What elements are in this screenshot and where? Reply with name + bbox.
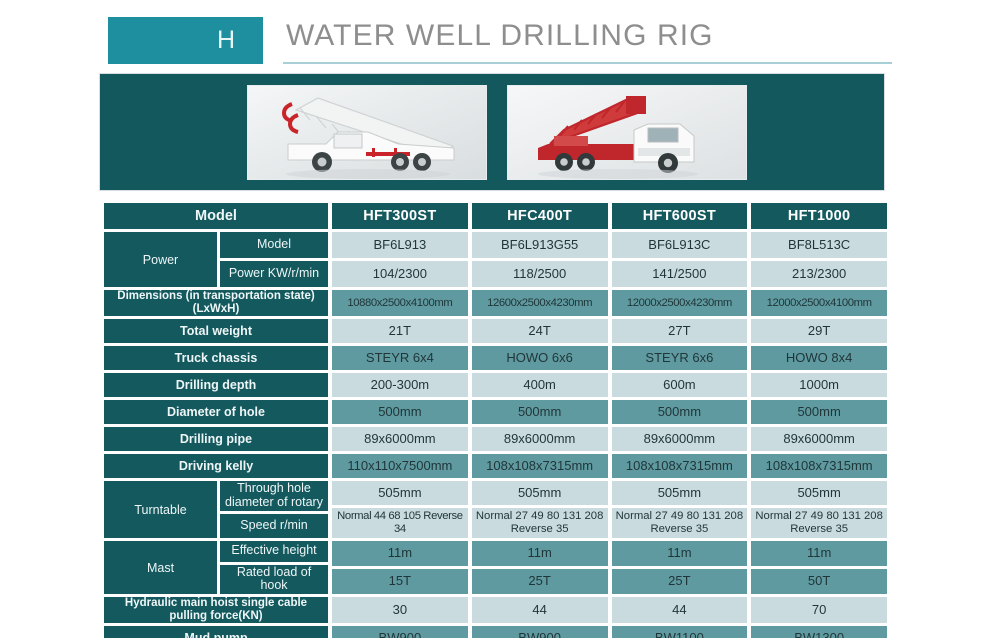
cell-hoist-3: 70 bbox=[751, 597, 887, 623]
cell-load-3: 50T bbox=[751, 569, 887, 594]
cell-model-1: BF6L913G55 bbox=[472, 232, 608, 258]
cell-weight-2: 27T bbox=[612, 319, 748, 343]
group-label-mast: Mast Effective height Rated load of hook bbox=[104, 541, 328, 594]
cell-pump-0: BW900 bbox=[332, 626, 468, 638]
cell-depth-0: 200-300m bbox=[332, 373, 468, 397]
table-row: Driving kelly 110x110x7500mm 108x108x731… bbox=[104, 454, 887, 478]
row-label-truck-chassis: Truck chassis bbox=[104, 346, 328, 370]
table-row: Total weight 21T 24T 27T 29T bbox=[104, 319, 887, 343]
cell-model-2: BF6L913C bbox=[612, 232, 748, 258]
row-label-driving-kelly: Driving kelly bbox=[104, 454, 328, 478]
cell-weight-3: 29T bbox=[751, 319, 887, 343]
row-label-drilling-depth: Drilling depth bbox=[104, 373, 328, 397]
cell-speed-1: Normal 27 49 80 131 208 Reverse 35 bbox=[472, 508, 608, 538]
cell-load-2: 25T bbox=[612, 569, 748, 594]
row-label-text: Drilling pipe bbox=[104, 427, 328, 451]
cell-hoist-1: 44 bbox=[472, 597, 608, 623]
cell-hoist-2: 44 bbox=[612, 597, 748, 623]
cell-pump-1: BW900 bbox=[472, 626, 608, 638]
cell-dimensions-3: 12000x2500x4100mm bbox=[751, 290, 887, 316]
turntable-group-values: 505mm 505mm 505mm 505mm Normal 44 68 105… bbox=[332, 481, 887, 538]
cell-pipe-0: 89x6000mm bbox=[332, 427, 468, 451]
cell-kelly-0: 110x110x7500mm bbox=[332, 454, 468, 478]
table-row-turntable-group: Turntable Through hole diameter of rotar… bbox=[104, 481, 887, 538]
cell-throughhole-3: 505mm bbox=[751, 481, 887, 505]
product-photo-white-rig bbox=[247, 85, 487, 180]
row-label-speed: Speed r/min bbox=[220, 514, 328, 539]
row-values: STEYR 6x4 HOWO 6x6 STEYR 6x6 HOWO 8x4 bbox=[332, 346, 887, 370]
cell-hole-1: 500mm bbox=[472, 400, 608, 424]
table-row: BF6L913 BF6L913G55 BF6L913C BF8L513C bbox=[332, 232, 887, 258]
table-row: Hydraulic main hoist single cable pullin… bbox=[104, 597, 887, 623]
row-values: 30 44 44 70 bbox=[332, 597, 887, 623]
cell-depth-2: 600m bbox=[612, 373, 748, 397]
cell-throughhole-1: 505mm bbox=[472, 481, 608, 505]
cell-speed-0: Normal 44 68 105 Reverse 34 bbox=[332, 508, 468, 538]
cell-throughhole-2: 505mm bbox=[612, 481, 748, 505]
cell-height-0: 11m bbox=[332, 541, 468, 566]
cell-hole-0: 500mm bbox=[332, 400, 468, 424]
row-label-diameter-of-hole: Diameter of hole bbox=[104, 400, 328, 424]
cell-speed-2: Normal 27 49 80 131 208 Reverse 35 bbox=[612, 508, 748, 538]
cell-power-1: 118/2500 bbox=[472, 261, 608, 287]
table-row: Normal 44 68 105 Reverse 34 Normal 27 49… bbox=[332, 508, 887, 538]
cell-power-2: 141/2500 bbox=[612, 261, 748, 287]
cell-load-1: 25T bbox=[472, 569, 608, 594]
page-title: WATER WELL DRILLING RIG bbox=[286, 19, 714, 53]
cell-load-0: 15T bbox=[332, 569, 468, 594]
row-values: 21T 24T 27T 29T bbox=[332, 319, 887, 343]
cell-kelly-1: 108x108x7315mm bbox=[472, 454, 608, 478]
model-header-label: Model bbox=[104, 203, 328, 229]
row-label-through-hole: Through hole diameter of rotary bbox=[220, 481, 328, 511]
cell-chassis-1: HOWO 6x6 bbox=[472, 346, 608, 370]
row-values: BW900 BW900 BW1100 BW1300 bbox=[332, 626, 887, 638]
cell-chassis-2: STEYR 6x6 bbox=[612, 346, 748, 370]
cell-pump-3: BW1300 bbox=[751, 626, 887, 638]
cell-dimensions-1: 12600x2500x4230mm bbox=[472, 290, 608, 316]
cell-model-3: BF8L513C bbox=[751, 232, 887, 258]
cell-hole-3: 500mm bbox=[751, 400, 887, 424]
row-values: 110x110x7500mm 108x108x7315mm 108x108x73… bbox=[332, 454, 887, 478]
cell-kelly-2: 108x108x7315mm bbox=[612, 454, 748, 478]
power-group-values: BF6L913 BF6L913G55 BF6L913C BF8L513C 104… bbox=[332, 232, 887, 287]
column-header-1: HFC400T bbox=[472, 203, 608, 229]
row-values: 10880x2500x4100mm 12600x2500x4230mm 1200… bbox=[332, 290, 887, 316]
column-header-3: HFT1000 bbox=[751, 203, 887, 229]
cell-throughhole-0: 505mm bbox=[332, 481, 468, 505]
section-letter-badge: H bbox=[108, 17, 263, 64]
table-header-row: Model HFT300ST HFC400T HFT600ST HFT1000 bbox=[104, 203, 887, 229]
cell-depth-3: 1000m bbox=[751, 373, 887, 397]
table-row: Dimensions (in transportation state) (Lx… bbox=[104, 290, 887, 316]
column-header-0: HFT300ST bbox=[332, 203, 468, 229]
row-label-mud-pump: Mud pump bbox=[104, 626, 328, 638]
table-row: 104/2300 118/2500 141/2500 213/2300 bbox=[332, 261, 887, 287]
row-label-total-weight: Total weight bbox=[104, 319, 328, 343]
product-photo-banner bbox=[99, 73, 885, 191]
group-name-power: Power bbox=[104, 232, 217, 287]
cell-chassis-3: HOWO 8x4 bbox=[751, 346, 887, 370]
table-row: Drilling depth 200-300m 400m 600m 1000m bbox=[104, 373, 887, 397]
cell-depth-1: 400m bbox=[472, 373, 608, 397]
table-row: 505mm 505mm 505mm 505mm bbox=[332, 481, 887, 505]
row-label-text: Drilling depth bbox=[104, 373, 328, 397]
mast-group-values: 11m 11m 11m 11m 15T 25T 25T 50T bbox=[332, 541, 887, 594]
row-values: 200-300m 400m 600m 1000m bbox=[332, 373, 887, 397]
cell-speed-3: Normal 27 49 80 131 208 Reverse 35 bbox=[751, 508, 887, 538]
cell-kelly-3: 108x108x7315mm bbox=[751, 454, 887, 478]
group-label-power: Power Model Power KW/r/min bbox=[104, 232, 328, 287]
row-label-drilling-pipe: Drilling pipe bbox=[104, 427, 328, 451]
row-values: 500mm 500mm 500mm 500mm bbox=[332, 400, 887, 424]
row-label-dimensions: Dimensions (in transportation state) (Lx… bbox=[104, 290, 328, 316]
specification-table: Model HFT300ST HFC400T HFT600ST HFT1000 … bbox=[104, 203, 887, 638]
table-row: Diameter of hole 500mm 500mm 500mm 500mm bbox=[104, 400, 887, 424]
product-spec-page: H WATER WELL DRILLING RIG bbox=[0, 0, 1000, 638]
row-label-hydraulic-hoist: Hydraulic main hoist single cable pullin… bbox=[104, 597, 328, 623]
row-label-rated-load: Rated load of hook bbox=[220, 565, 328, 595]
row-label-text: Mud pump bbox=[104, 626, 328, 638]
table-row-mast-group: Mast Effective height Rated load of hook… bbox=[104, 541, 887, 594]
table-row: 15T 25T 25T 50T bbox=[332, 569, 887, 594]
table-row: Truck chassis STEYR 6x4 HOWO 6x6 STEYR 6… bbox=[104, 346, 887, 370]
cell-pipe-2: 89x6000mm bbox=[612, 427, 748, 451]
row-label-text: Driving kelly bbox=[104, 454, 328, 478]
group-sublabels-turntable: Through hole diameter of rotary Speed r/… bbox=[220, 481, 328, 538]
table-row-power-group: Power Model Power KW/r/min BF6L913 BF6L9… bbox=[104, 232, 887, 287]
cell-dimensions-2: 12000x2500x4230mm bbox=[612, 290, 748, 316]
page-header: H WATER WELL DRILLING RIG bbox=[108, 17, 892, 65]
row-label-effective-height: Effective height bbox=[220, 541, 328, 562]
cell-power-3: 213/2300 bbox=[751, 261, 887, 287]
group-sublabels-power: Model Power KW/r/min bbox=[220, 232, 328, 287]
cell-pump-2: BW1100 bbox=[612, 626, 748, 638]
white-drilling-rig-truck-icon bbox=[248, 86, 487, 180]
cell-model-0: BF6L913 bbox=[332, 232, 468, 258]
cell-chassis-0: STEYR 6x4 bbox=[332, 346, 468, 370]
cell-height-2: 11m bbox=[612, 541, 748, 566]
row-label-text: Total weight bbox=[104, 319, 328, 343]
cell-weight-0: 21T bbox=[332, 319, 468, 343]
red-mast-drilling-rig-truck-icon bbox=[508, 86, 747, 180]
cell-height-1: 11m bbox=[472, 541, 608, 566]
cell-pipe-3: 89x6000mm bbox=[751, 427, 887, 451]
group-name-turntable: Turntable bbox=[104, 481, 217, 538]
table-row: 11m 11m 11m 11m bbox=[332, 541, 887, 566]
row-label-text: Dimensions (in transportation state) (Lx… bbox=[104, 290, 328, 316]
row-label-text: Diameter of hole bbox=[104, 400, 328, 424]
cell-hoist-0: 30 bbox=[332, 597, 468, 623]
cell-height-3: 11m bbox=[751, 541, 887, 566]
row-label-power-kw: Power KW/r/min bbox=[220, 261, 328, 287]
model-header-text: Model bbox=[104, 203, 328, 229]
table-row: Mud pump BW900 BW900 BW1100 BW1300 bbox=[104, 626, 887, 638]
group-sublabels-mast: Effective height Rated load of hook bbox=[220, 541, 328, 594]
cell-weight-1: 24T bbox=[472, 319, 608, 343]
cell-dimensions-0: 10880x2500x4100mm bbox=[332, 290, 468, 316]
row-values: 89x6000mm 89x6000mm 89x6000mm 89x6000mm bbox=[332, 427, 887, 451]
cell-power-0: 104/2300 bbox=[332, 261, 468, 287]
column-header-2: HFT600ST bbox=[612, 203, 748, 229]
model-column-headers: HFT300ST HFC400T HFT600ST HFT1000 bbox=[332, 203, 887, 229]
row-label-text: Hydraulic main hoist single cable pullin… bbox=[104, 597, 328, 623]
group-label-turntable: Turntable Through hole diameter of rotar… bbox=[104, 481, 328, 538]
section-letter: H bbox=[217, 26, 263, 55]
cell-hole-2: 500mm bbox=[612, 400, 748, 424]
group-name-mast: Mast bbox=[104, 541, 217, 594]
cell-pipe-1: 89x6000mm bbox=[472, 427, 608, 451]
product-photo-red-rig bbox=[507, 85, 747, 180]
row-label-model: Model bbox=[220, 232, 328, 258]
row-label-text: Truck chassis bbox=[104, 346, 328, 370]
title-underline bbox=[283, 62, 892, 64]
table-row: Drilling pipe 89x6000mm 89x6000mm 89x600… bbox=[104, 427, 887, 451]
